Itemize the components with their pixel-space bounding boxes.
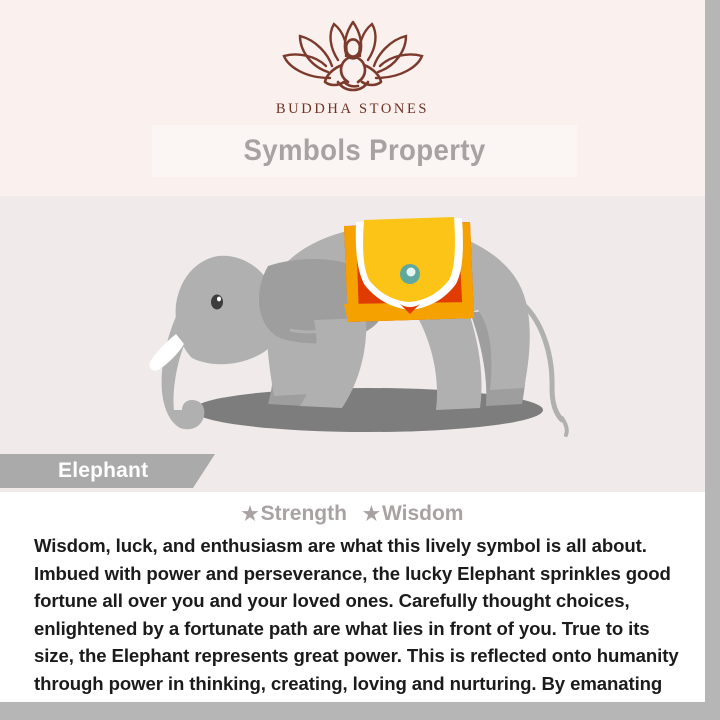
elephant-illustration <box>118 192 588 442</box>
brand-logo: BUDDHA STONES <box>0 16 705 118</box>
decor-wedge-bottom-left <box>0 702 560 720</box>
poster-root: BUDDHA STONES Symbols Property <box>0 0 720 720</box>
star-icon-strength: ★ <box>242 504 259 525</box>
symbol-label: Elephant <box>58 459 148 483</box>
trait-wisdom: Wisdom <box>382 502 463 525</box>
page-title: Symbols Property <box>243 134 485 168</box>
saddle-gem-inner <box>406 268 415 277</box>
traits-row: ★Strength★Wisdom <box>0 492 705 526</box>
poster-card: BUDDHA STONES Symbols Property <box>0 0 705 702</box>
symbol-description: Wisdom, luck, and enthusiasm are what th… <box>0 532 705 702</box>
elephant-eye <box>211 295 223 310</box>
decor-strip-right <box>705 0 720 702</box>
symbol-label-banner: Elephant <box>0 454 215 488</box>
lotus-meditation-icon <box>268 16 438 98</box>
elephant-tail-tuft <box>562 418 567 435</box>
description-panel: ★Strength★Wisdom Wisdom, luck, and enthu… <box>0 492 705 702</box>
illustration-panel <box>0 196 705 454</box>
brand-name: BUDDHA STONES <box>0 101 705 118</box>
elephant-eye-highlight <box>217 297 221 302</box>
symbol-label-row: Elephant <box>0 454 705 492</box>
title-banner: Symbols Property <box>152 125 577 177</box>
trait-strength: Strength <box>261 502 347 525</box>
star-icon-wisdom: ★ <box>363 504 380 525</box>
header: BUDDHA STONES Symbols Property <box>0 0 705 196</box>
